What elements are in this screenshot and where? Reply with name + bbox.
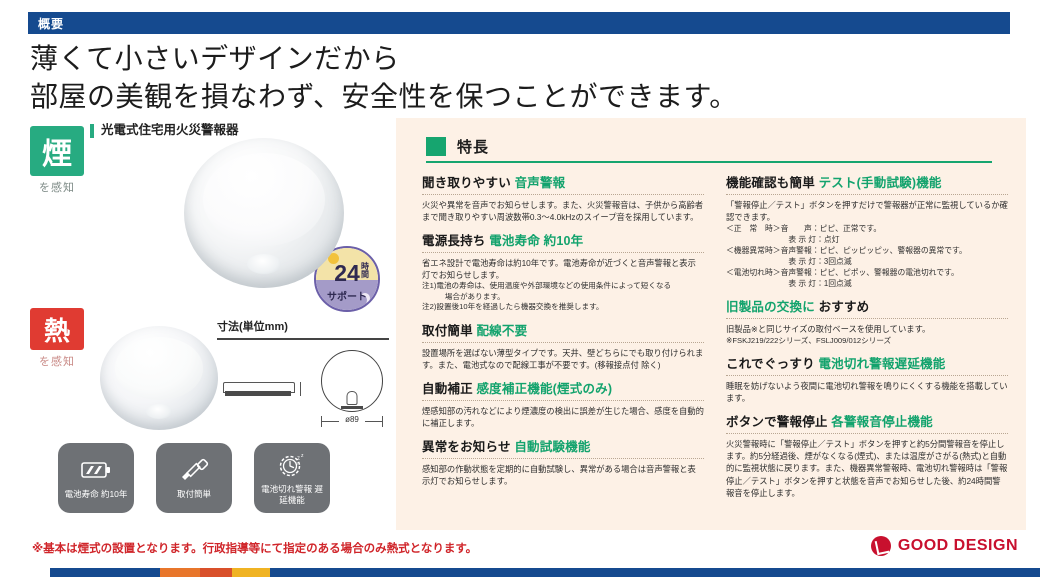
feature-replacement: 旧製品の交換に おすすめ 旧製品※と同じサイズの取付ベースを使用しています。 ※… [726,300,1008,346]
screwdriver-icon [177,456,211,484]
side-view-drawing [223,382,293,397]
height-dimension-tick [300,382,301,396]
feature-divider [422,458,704,459]
strip-segment-2 [160,568,200,577]
dimensions-title: 寸法(単位mm) [217,318,389,334]
features-heading: 特長 [457,136,489,157]
feature-body: 火災や異常を音声でお知らせします。また、火災警報音は、子供から高齢者まで聞き取り… [422,199,704,223]
feature-divider [726,194,1008,195]
tile-delay-caption: 電池切れ警報 遅延機能 [254,484,330,505]
diameter-cap-left [321,416,322,427]
strip-segment-4 [232,568,270,577]
page-footnote: ※基本は煙式の設置となります。行政指導等にて指定のある場合のみ熱式となります。 [32,540,477,556]
feature-body: 火災警報時に「警報停止／テスト」ボタンを押すと約5分間警報音を停止します。約5分… [726,438,1008,498]
smoke-badge-sub: を感知 [26,179,88,195]
dimensions-drawing: ø89 [217,348,389,436]
battery-icon [79,456,113,484]
features-left-column: 聞き取りやすい 音声警報 火災や異常を音声でお知らせします。また、火災警報音は、… [422,176,704,510]
feature-title: 自動補正 感度補正機能(煙式のみ) [422,382,704,397]
section-title: 概要 [28,15,64,32]
features-panel: 特長 聞き取りやすい 音声警報 火災や異常を音声でお知らせします。また、火災警報… [396,118,1026,530]
page-headline: 薄くて小さいデザインだから 部屋の美観を損なわず、安全性を保つことができます。 [30,40,990,116]
feature-body: 煙感知部の汚れなどにより煙濃度の検出に誤差が生じた場合、感度を自動的に補正します… [422,405,704,429]
feature-title: 機能確認も簡単 テスト(手動試験)機能 [726,176,1008,191]
heat-kanji: 熱 [30,308,84,350]
feature-title: 取付簡単 配線不要 [422,324,704,339]
test-mode-table: ＜正 常 時＞音 声：ピピ、正常です。 表 示 灯：点灯 ＜機器異常時＞音声警報… [726,223,1008,289]
headline-line-2: 部屋の美観を損なわず、安全性を保つことができます。 [30,78,990,116]
section-header-bar: 概要 [28,12,1010,34]
smoke-kanji: 煙 [30,126,84,176]
features-marker-icon [426,137,446,156]
diameter-cap-right [382,416,383,427]
feature-divider [726,433,1008,434]
diameter-label: ø89 [339,415,365,424]
feature-title: 旧製品の交換に おすすめ [726,300,1008,315]
feature-icon-tiles: 電池寿命 約10年 取付簡単 [58,443,388,513]
indicator-lamp-secondary [146,404,172,419]
product-spec-page: 概要 薄くて小さいデザインだから 部屋の美観を損なわず、安全性を保つことができま… [0,0,1040,577]
feature-voice-alarm: 聞き取りやすい 音声警報 火災や異常を音声でお知らせします。また、火災警報音は、… [422,176,704,223]
features-heading-rule [426,161,992,163]
feature-alarm-stop: ボタンで警報停止 各警報音停止機能 火災警報時に「警報停止／テスト」ボタンを押す… [726,415,1008,498]
feature-body: 省エネ設計で電池寿命は約10年です。電池寿命が近づくと音声警報と表示灯でお知らせ… [422,257,704,281]
feature-divider [422,400,704,401]
dimensions-rule [217,338,389,340]
tile-easy-install: 取付簡単 [156,443,232,513]
compatible-models-note: ※FSKJ219/222シリーズ、FSLJ009/012シリーズ [726,335,1008,346]
diameter-dimension-line: ø89 [319,416,385,429]
top-view-circle [321,350,383,412]
feature-body: 睡眠を妨げないよう夜間に電池切れ警報を鳴りにくくする機能を搭載しています。 [726,380,1008,404]
feature-title: 電源長持ち 電池寿命 約10年 [422,234,704,249]
feature-auto-test: 異常をお知らせ 自動試験機能 感知部の作動状態を定期的に自動試験し、異常がある場… [422,440,704,487]
feature-divider [422,194,704,195]
product-photo-main [184,138,344,288]
strip-segment-5 [270,568,1040,577]
product-name: 光電式住宅用火災警報器 [90,124,239,138]
indicator-lamp [247,254,281,274]
feature-title: ボタンで警報停止 各警報音停止機能 [726,415,1008,430]
top-view-drawing: ø89 [319,350,385,429]
tile-install-caption: 取付簡単 [174,489,214,500]
feature-alarm-delay: これでぐっすり 電池切れ警報遅延機能 睡眠を妨げないよう夜間に電池切れ警報を鳴り… [726,357,1008,404]
good-design-mark-icon [871,536,891,556]
strip-segment-3 [200,568,232,577]
smoke-detection-badge: 煙 を感知 [26,126,88,195]
feature-divider [422,342,704,343]
feature-divider [726,375,1008,376]
heat-badge-sub: を感知 [26,353,88,369]
feature-title: 聞き取りやすい 音声警報 [422,176,704,191]
feature-divider [422,252,704,253]
tile-battery-life: 電池寿命 約10年 [58,443,134,513]
side-view-base [225,391,291,396]
feature-auto-calibration: 自動補正 感度補正機能(煙式のみ) 煙感知部の汚れなどにより煙濃度の検出に誤差が… [422,382,704,429]
feature-body: 旧製品※と同じサイズの取付ベースを使用しています。 [726,323,1008,335]
features-right-column: 機能確認も簡単 テスト(手動試験)機能 「警報停止／テスト」ボタンを押すだけで警… [726,176,1008,510]
headline-line-1: 薄くて小さいデザインだから [30,40,990,78]
good-design-logo: GOOD DESIGN [871,536,1018,556]
tile-battery-caption: 電池寿命 約10年 [62,489,131,500]
heat-detection-badge: 熱 を感知 [26,308,88,369]
feature-battery-life: 電源長持ち 電池寿命 約10年 省エネ設計で電池寿命は約10年です。電池寿命が近… [422,234,704,313]
bottom-color-strip [0,568,1040,577]
strip-segment-1 [50,568,160,577]
feature-divider [726,318,1008,319]
feature-body: 「警報停止／テスト」ボタンを押すだけで警報器が正常に監視しているか確認できます。 [726,199,1008,223]
feature-title: 異常をお知らせ 自動試験機能 [422,440,704,455]
good-design-text: GOOD DESIGN [898,537,1018,555]
seal-unit: 時間 [361,263,370,279]
feature-body: 感知部の作動状態を定期的に自動試験し、異常がある場合は音声警報と表示灯でお知らせ… [422,463,704,487]
tile-alarm-delay: z z z 電池切れ警報 遅延機能 [254,443,330,513]
features-heading-block: 特長 [426,136,992,163]
feature-title: これでぐっすり 電池切れ警報遅延機能 [726,357,1008,372]
dimensions-block: 寸法(単位mm) ø89 [217,318,389,436]
product-photo-secondary [100,326,218,430]
feature-notes: 注1)電池の寿命は、使用温度や外部環境などの使用条件によって短くなる 場合があり… [422,281,704,313]
feature-no-wiring: 取付簡単 配線不要 設置場所を選ばない薄型タイプです。天井、壁どちらにでも取り付… [422,324,704,371]
strip-segment-0 [0,568,50,577]
top-view-button [347,391,358,405]
svg-text:z: z [301,453,304,459]
feature-manual-test: 機能確認も簡単 テスト(手動試験)機能 「警報停止／テスト」ボタンを押すだけで警… [726,176,1008,289]
feature-body: 設置場所を選ばない薄型タイプです。天井、壁どちらにでも取り付けられます。また、電… [422,347,704,371]
top-view-label-strip [341,406,363,409]
features-columns: 聞き取りやすい 音声警報 火災や異常を音声でお知らせします。また、火災警報音は、… [422,176,1008,510]
clock-sleep-icon: z z z [275,451,309,479]
seal-support-label: サポート [316,288,378,303]
product-visual-panel: 煙 を感知 熱 を感知 光電式住宅用火災警報器 24 時間 サポート 寸法(単位… [14,118,392,530]
